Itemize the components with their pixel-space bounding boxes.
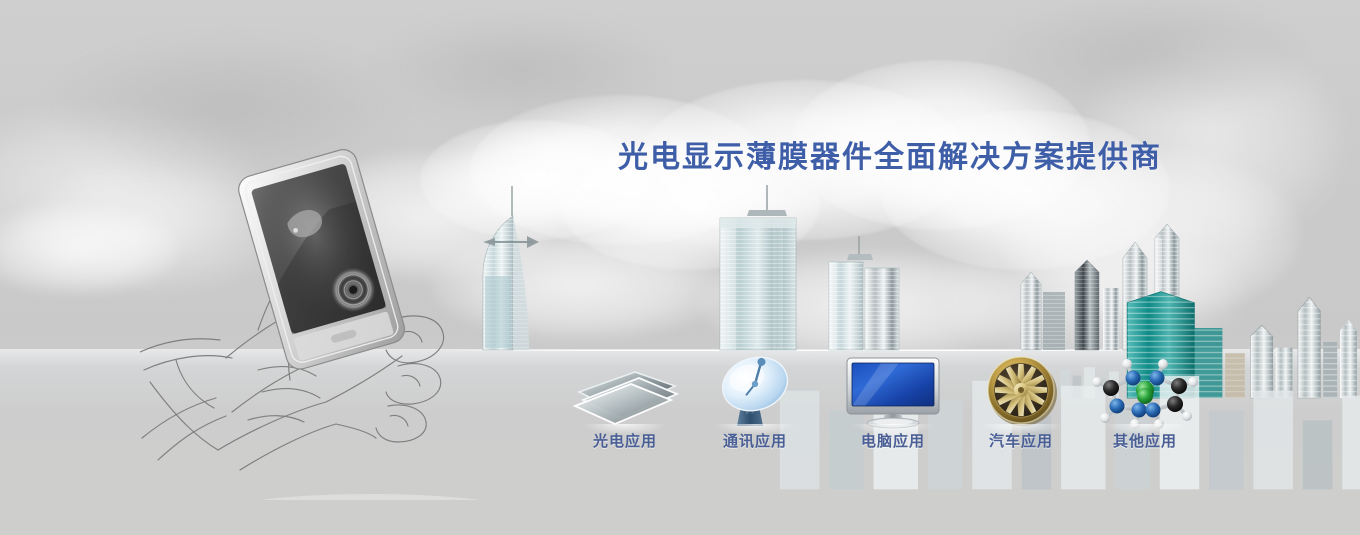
page-title: 光电显示薄膜器件全面解决方案提供商 [618,140,1162,176]
computer-monitor-icon [832,352,954,430]
car-wheel-rim-icon [960,352,1082,430]
molecule-model-icon [1084,352,1206,430]
glass-film-panels-icon [564,352,686,430]
application-list: 光电应用 [560,352,1200,467]
cloud-shape [380,20,660,120]
cloud-shape [1000,0,1300,110]
satellite-dish-icon [694,352,816,430]
icon-reflection [852,424,934,434]
application-item-communication[interactable]: 通讯应用 [694,352,816,464]
application-item-optoelectronic[interactable]: 光电应用 [564,352,686,464]
burj-al-arab [483,186,539,350]
icon-reflection [584,424,666,434]
icon-reflection [714,424,796,434]
application-item-computer[interactable]: 电脑应用 [832,352,954,464]
icon-reflection [980,424,1062,434]
application-item-automotive[interactable]: 汽车应用 [960,352,1082,464]
low-rise-strip [770,318,920,352]
hero-banner: 光电显示薄膜器件全面解决方案提供商 [0,0,1360,535]
icon-reflection [1104,424,1186,434]
hand-phone-illustration [140,120,480,500]
application-item-other[interactable]: 其他应用 [1084,352,1206,464]
